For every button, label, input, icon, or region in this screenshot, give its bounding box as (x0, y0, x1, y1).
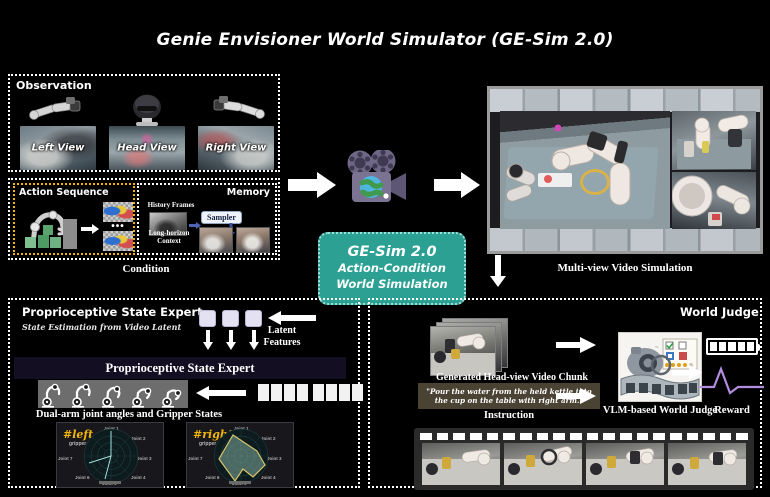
state-token (271, 384, 282, 401)
joint-frame (158, 380, 188, 408)
vlm-to-reward-arrow (672, 365, 702, 385)
flow-tile-bottom (103, 231, 133, 251)
proprioceptive-panel-subtitle: State Estimation from Video Latent (22, 322, 181, 332)
history-frames-label: History Frames (143, 201, 199, 209)
polar-plot-left-arm: #left gripper Joint 1 Joint 2 Joint 3 Jo… (56, 422, 164, 488)
proprioceptive-panel-label: Proprioceptive State Expert (22, 305, 203, 319)
context-thumbnail-2 (236, 227, 270, 253)
right-view-label: Right View (198, 143, 274, 154)
state-token (339, 384, 350, 401)
action-sequence-panel: Action Sequence (13, 183, 135, 255)
head-view-label: Head View (109, 143, 185, 154)
multi-view-simulation-label: Multi-view Video Simulation (487, 262, 763, 274)
state-token (352, 384, 363, 401)
state-token (258, 384, 269, 401)
filmstrip-sprockets (420, 433, 748, 440)
polar-left-joint-7: Joint 7 (58, 456, 73, 461)
head-view-thumbnail: Head View (109, 126, 185, 170)
generated-video-filmstrip[interactable] (414, 428, 754, 490)
multi-view-simulation-video[interactable] (490, 89, 760, 251)
battery-segment (728, 342, 735, 351)
condition-panel-label: Condition (10, 263, 282, 275)
reward-label: Reward (700, 405, 764, 416)
reward-battery-icon (706, 338, 758, 355)
sampler-button[interactable]: Sampler (201, 211, 242, 224)
polar-left-joint-3: Joint 3 (137, 456, 152, 461)
ge-sim-title: GE-Sim 2.0 (347, 244, 436, 260)
condition-panel: Action Sequence (8, 178, 280, 260)
left-view-label: Left View (20, 143, 96, 154)
battery-segment (710, 342, 717, 351)
generated-chunk-label: Generated Head-view Video Chunk (412, 372, 612, 383)
movie-camera-globe-icon (340, 150, 412, 208)
polar-left-legend (99, 481, 121, 484)
action-sequence-label: Action Sequence (19, 187, 109, 198)
simulation-to-judge-arrow (490, 255, 506, 292)
right-arm-robot-photo (198, 94, 274, 126)
ge-sim-subtitle-2: World Simulation (336, 277, 447, 293)
proprioceptive-bar-label: Proprioceptive State Expert (105, 361, 254, 376)
generated-chunk-thumb-1[interactable] (430, 326, 496, 376)
simulation-side-view-bottom (672, 172, 756, 229)
observation-view-right: Right View (198, 94, 274, 170)
filmstrip-frame (668, 443, 746, 485)
observation-panel-label: Observation (16, 79, 92, 92)
filmstrip-frame (504, 443, 582, 485)
latent-features-label: Latent Features (247, 325, 317, 348)
joint-frame (38, 380, 68, 408)
state-to-joints-arrow (196, 386, 246, 405)
memory-panel: Memory History Frames Sampler Long-horiz… (137, 183, 277, 255)
world-judge-panel-label: World Judge (680, 305, 759, 319)
joint-frame (98, 380, 128, 408)
simulation-side-view-top (672, 111, 756, 170)
filmstrip-frame (422, 443, 500, 485)
head-robot-photo (109, 94, 185, 126)
state-token (326, 384, 337, 401)
condition-to-camera-arrow (288, 172, 336, 203)
battery-segment (747, 342, 754, 351)
camera-to-simulation-arrow (434, 172, 480, 203)
proprioceptive-state-expert-bar: Proprioceptive State Expert (14, 357, 346, 379)
simulation-main-view (500, 111, 670, 229)
observation-view-left: Left View (20, 94, 96, 170)
battery-segment (738, 342, 745, 351)
polar-right-chart (213, 425, 269, 487)
left-arm-robot-photo (20, 94, 96, 126)
context-thumbnail-1 (199, 227, 233, 253)
svg-text:~: ~ (655, 345, 659, 351)
polar-right-legend (229, 481, 251, 484)
battery-segment (719, 342, 726, 351)
state-token (284, 384, 295, 401)
ge-sim-module-box[interactable]: GE-Sim 2.0 Action-Condition World Simula… (318, 232, 466, 305)
polar-right-joint-3: Joint 3 (267, 456, 282, 461)
reward-curve (700, 363, 764, 404)
action-to-latent-arrow (81, 221, 99, 239)
dual-arm-joint-strip (38, 380, 188, 408)
polar-left-chart (83, 425, 139, 487)
dual-arm-states-label: Dual-arm joint angles and Gripper States (14, 409, 244, 420)
figure-root: Genie Envisioner World Simulator (GE-Sim… (0, 0, 770, 497)
instruction-to-vlm-arrow (556, 388, 596, 409)
observation-panel: Observation Left View (8, 74, 280, 172)
joint-frame (68, 380, 98, 408)
joint-frame (128, 380, 158, 408)
flow-tile-top (103, 202, 133, 222)
latent-down-arrow-1 (203, 330, 213, 355)
long-horizon-context-label: Long-horizon Context (141, 229, 197, 245)
latent-feature-box-2 (222, 310, 239, 327)
instruction-label: Instruction (418, 410, 600, 421)
filmstrip-frame (586, 443, 664, 485)
page-title: Genie Envisioner World Simulator (GE-Sim… (0, 30, 770, 50)
polar-right-joint-7: Joint 7 (188, 456, 203, 461)
observation-view-head: Head View (109, 94, 185, 170)
state-token (313, 384, 324, 401)
latent-feature-box-1 (199, 310, 216, 327)
latent-down-arrow-2 (226, 330, 236, 355)
memory-label: Memory (227, 187, 270, 198)
left-view-thumbnail: Left View (20, 126, 96, 170)
chunk-to-vlm-arrow (556, 337, 596, 358)
multi-view-simulation-frame (487, 86, 763, 254)
action-sequence-robot-icon (19, 201, 81, 256)
polar-plot-right-arm: #right gripper Joint 1 Joint 2 Joint 3 J… (186, 422, 294, 488)
right-view-thumbnail: Right View (198, 126, 274, 170)
ge-sim-subtitle-1: Action-Condition (338, 261, 446, 277)
state-token (297, 384, 308, 401)
